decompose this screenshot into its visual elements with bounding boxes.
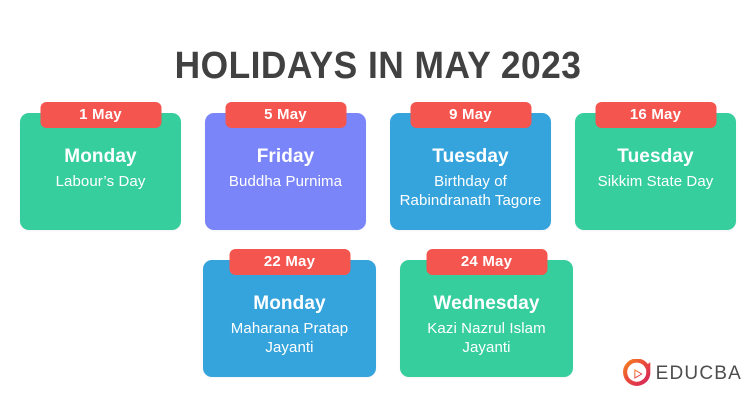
holiday-weekday: Monday bbox=[211, 292, 368, 316]
holiday-date-badge: 5 May bbox=[225, 102, 346, 128]
holiday-card[interactable]: 1 May Monday Labour’s Day bbox=[20, 113, 181, 230]
infographic-canvas: HOLIDAYS IN MAY 2023 1 May Monday Labour… bbox=[0, 0, 756, 402]
educba-logo[interactable]: EDUCBA bbox=[622, 359, 742, 389]
holiday-date-badge: 24 May bbox=[426, 249, 547, 275]
holiday-card[interactable]: 5 May Friday Buddha Purnima bbox=[205, 113, 366, 230]
educba-play-circle-icon bbox=[622, 359, 652, 389]
holiday-card[interactable]: 9 May Tuesday Birthday of Rabindranath T… bbox=[390, 113, 551, 230]
holiday-card[interactable]: 24 May Wednesday Kazi Nazrul Islam Jayan… bbox=[400, 260, 573, 377]
holiday-occasion: Kazi Nazrul Islam Jayanti bbox=[408, 319, 565, 357]
educba-wordmark: EDUCBA bbox=[656, 363, 742, 385]
holiday-weekday: Tuesday bbox=[583, 145, 728, 169]
holiday-date-badge: 9 May bbox=[410, 102, 531, 128]
page-title: HOLIDAYS IN MAY 2023 bbox=[26, 43, 729, 89]
holiday-weekday: Wednesday bbox=[408, 292, 565, 316]
holiday-occasion: Sikkim State Day bbox=[583, 172, 728, 191]
holiday-weekday: Monday bbox=[28, 145, 173, 169]
holiday-occasion: Buddha Purnima bbox=[213, 172, 358, 191]
holiday-occasion: Birthday of Rabindranath Tagore bbox=[398, 172, 543, 210]
holiday-occasion: Labour’s Day bbox=[28, 172, 173, 191]
holiday-date-badge: 1 May bbox=[40, 102, 161, 128]
holiday-row-1: 1 May Monday Labour’s Day 5 May Friday B… bbox=[20, 113, 736, 230]
holiday-date-badge: 16 May bbox=[595, 102, 716, 128]
holiday-weekday: Friday bbox=[213, 145, 358, 169]
holiday-date-badge: 22 May bbox=[229, 249, 350, 275]
holiday-card[interactable]: 22 May Monday Maharana Pratap Jayanti bbox=[203, 260, 376, 377]
holiday-weekday: Tuesday bbox=[398, 145, 543, 169]
holiday-occasion: Maharana Pratap Jayanti bbox=[211, 319, 368, 357]
holiday-card[interactable]: 16 May Tuesday Sikkim State Day bbox=[575, 113, 736, 230]
